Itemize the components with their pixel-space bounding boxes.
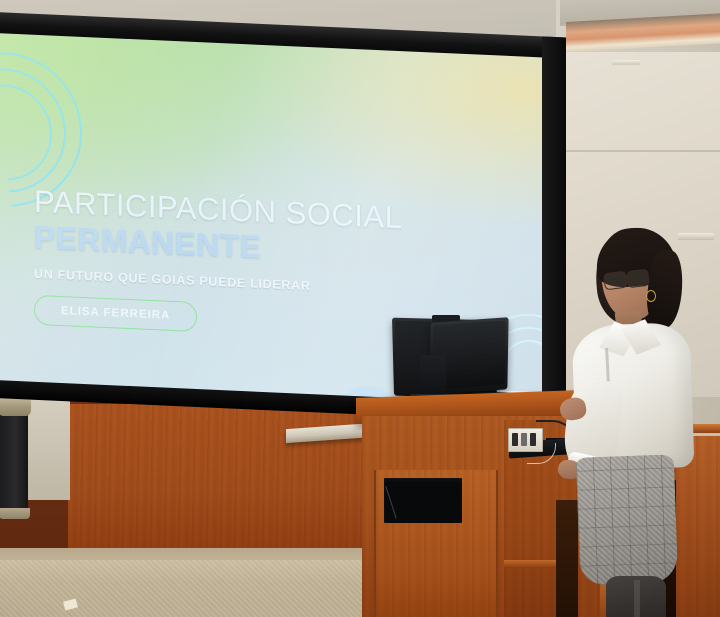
trash-bin-base	[0, 508, 30, 519]
speaker-leg-gap	[634, 580, 640, 617]
connector-port-1	[512, 433, 518, 446]
slide-subtitle: UN FUTURO QUE GOIÁS PUEDE LIDERAR	[34, 267, 504, 302]
glasses-left-lens-icon	[603, 271, 628, 291]
speaker-skirt	[576, 454, 678, 585]
earring-icon	[646, 290, 656, 302]
glasses-right-lens-icon	[626, 269, 650, 289]
whiteboard-seam	[566, 150, 720, 152]
trash-bin	[0, 404, 28, 512]
speaker-person	[560, 228, 720, 617]
left-wall-strip	[28, 396, 70, 500]
presentation-photo-scene: PARTICIPACIÓN SOCIAL PERMANENTE UN FUTUR…	[0, 0, 720, 617]
slide-title-word2: SOCIAL	[286, 195, 403, 235]
speaker-name-pill: ELISA FERREIRA	[34, 295, 197, 332]
whiteboard-clip	[612, 60, 640, 65]
